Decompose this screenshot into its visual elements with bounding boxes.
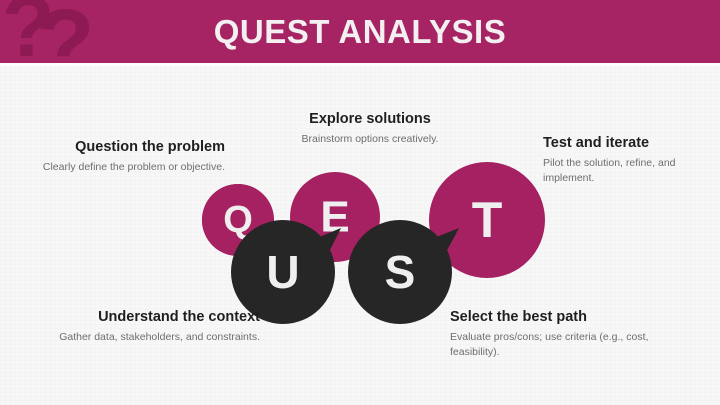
quest-node-s[interactable]: S: [348, 220, 459, 324]
label-select-title: Select the best path: [450, 308, 680, 326]
label-test-and-iterate: Test and iterate Pilot the solution, ref…: [543, 134, 720, 186]
quest-node-s-letter: S: [385, 246, 416, 298]
label-explore-desc: Brainstorm options creatively.: [275, 132, 465, 147]
label-understand-the-context: Understand the context Gather data, stak…: [10, 308, 260, 345]
label-select-the-best-path: Select the best path Evaluate pros/cons;…: [450, 308, 680, 360]
label-test-desc: Pilot the solution, refine, and implemen…: [543, 156, 720, 186]
slide-canvas: ? ? ? ? QUEST ANALYSIS Q E T: [0, 0, 720, 405]
label-understand-desc: Gather data, stakeholders, and constrain…: [10, 330, 260, 345]
label-question-the-problem: Question the problem Clearly define the …: [10, 138, 225, 175]
header-band: ? ? ? ? QUEST ANALYSIS: [0, 0, 720, 63]
label-question-title: Question the problem: [10, 138, 225, 156]
label-explore-title: Explore solutions: [275, 110, 465, 128]
label-understand-title: Understand the context: [10, 308, 260, 326]
label-test-title: Test and iterate: [543, 134, 720, 152]
header-divider: [0, 63, 720, 66]
label-select-desc: Evaluate pros/cons; use criteria (e.g., …: [450, 330, 680, 360]
label-question-desc: Clearly define the problem or objective.: [10, 160, 225, 175]
quest-node-t-letter: T: [472, 192, 503, 248]
page-title: QUEST ANALYSIS: [0, 0, 720, 63]
label-explore-solutions: Explore solutions Brainstorm options cre…: [275, 110, 465, 147]
quest-node-u-letter: U: [266, 246, 299, 298]
